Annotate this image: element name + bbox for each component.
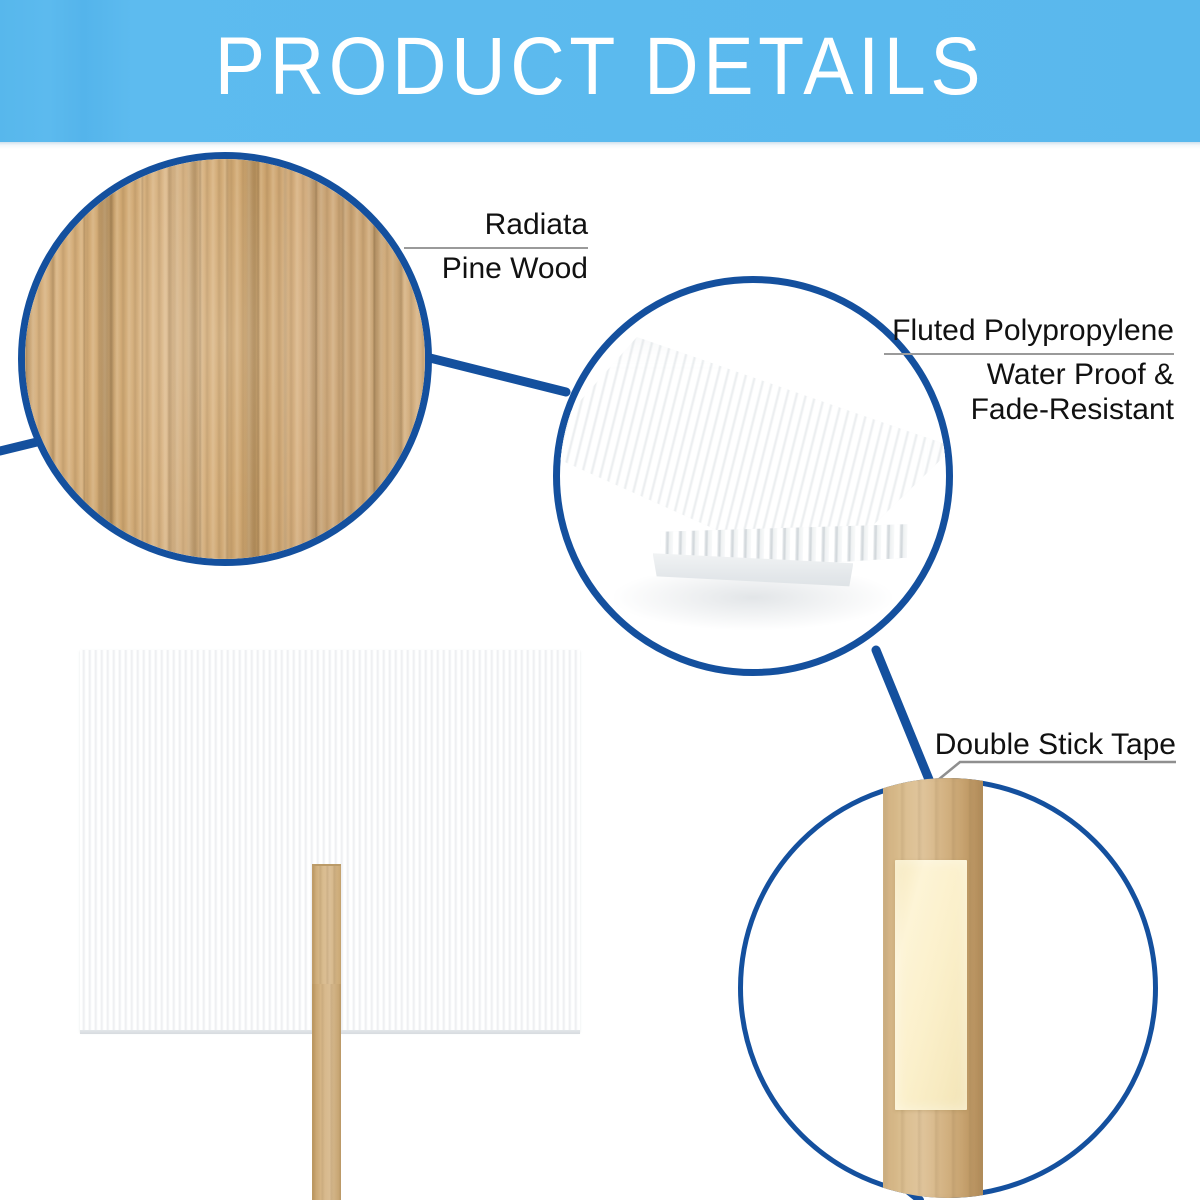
label-flute-title: Fluted Polypropylene — [884, 314, 1174, 349]
label-wood: Radiata Pine Wood — [404, 208, 588, 287]
sheet-shadow — [614, 576, 892, 630]
label-flute: Fluted Polypropylene Water Proof & Fade-… — [884, 314, 1174, 427]
wood-grain-swatch — [25, 159, 425, 559]
double-stick-tape-strip — [895, 860, 967, 1110]
callout-circle-tape[interactable] — [738, 778, 1158, 1198]
connector-wood-to-flute — [422, 356, 566, 392]
leader-rule-flute — [884, 353, 1174, 355]
taped-stake-swatch — [738, 778, 1158, 1198]
callout-circle-wood[interactable] — [18, 152, 432, 566]
hero-product-photo — [0, 600, 620, 1200]
wood-vignette — [25, 159, 425, 559]
label-wood-subtitle: Pine Wood — [404, 252, 588, 287]
connector-flute-to-tape — [876, 650, 930, 782]
label-flute-subtitle-line2: Fade-Resistant — [884, 393, 1174, 428]
label-tape-title: Double Stick Tape — [930, 728, 1176, 763]
stake-behind-sign — [312, 864, 341, 984]
stake-below-sign — [312, 984, 341, 1200]
label-flute-subtitle-line1: Water Proof & — [884, 358, 1174, 393]
leader-rule-wood — [404, 247, 588, 249]
label-wood-title: Radiata — [404, 208, 588, 243]
label-tape: Double Stick Tape — [930, 728, 1176, 763]
